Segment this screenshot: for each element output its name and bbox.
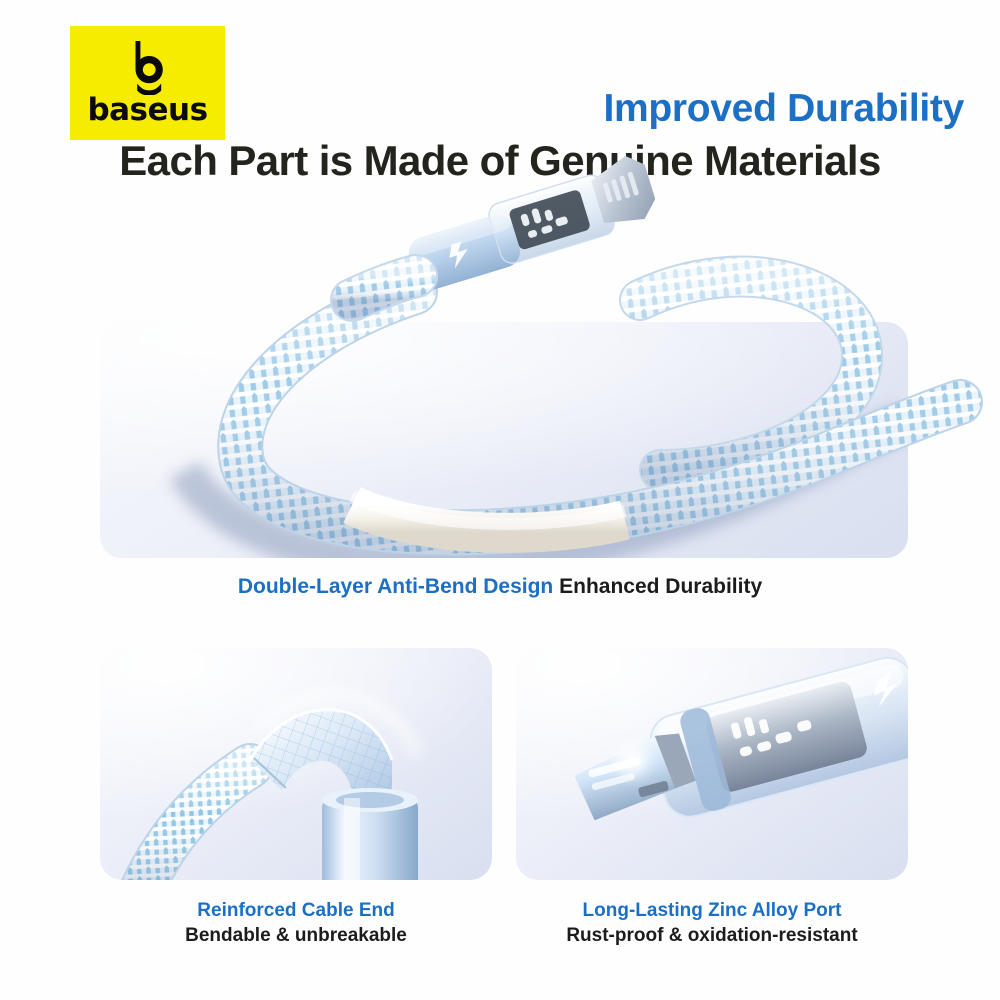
zinc-alloy-port-panel: [516, 648, 908, 880]
hero-image-panel: [100, 322, 908, 558]
caption-bl-subtitle: Bendable & unbreakable: [100, 923, 492, 948]
caption-bl-title: Reinforced Cable End: [100, 898, 492, 923]
reinforced-cable-illustration: [100, 648, 492, 880]
lightning-bolt-icon: [446, 240, 472, 269]
hero-caption: Double-Layer Anti-Bend Design Enhanced D…: [0, 573, 1000, 601]
headline-line-2: Each Part is Made of Genuine Materials: [0, 136, 1000, 186]
zinc-alloy-port-caption: Long-Lasting Zinc Alloy Port Rust-proof …: [516, 898, 908, 948]
zinc-alloy-connector-illustration: [516, 648, 908, 880]
page-title: Improved Durability Each Part is Made of…: [0, 86, 1000, 186]
connector-contacts: [519, 200, 569, 239]
caption-br-title: Long-Lasting Zinc Alloy Port: [516, 898, 908, 923]
product-feature-page: baseus Improved Durability Each Part is …: [0, 0, 1000, 1000]
reinforced-end-panel: [100, 648, 492, 880]
cable-stub-to-connector: [352, 276, 416, 300]
panel-sheen: [100, 322, 908, 558]
caption-br-subtitle: Rust-proof & oxidation-resistant: [516, 923, 908, 948]
headline-line-1: Improved Durability: [0, 86, 1000, 132]
hero-caption-primary: Double-Layer Anti-Bend Design: [238, 575, 553, 598]
reinforced-end-caption: Reinforced Cable End Bendable & unbreaka…: [100, 898, 492, 948]
hero-caption-secondary: Enhanced Durability: [559, 575, 762, 598]
